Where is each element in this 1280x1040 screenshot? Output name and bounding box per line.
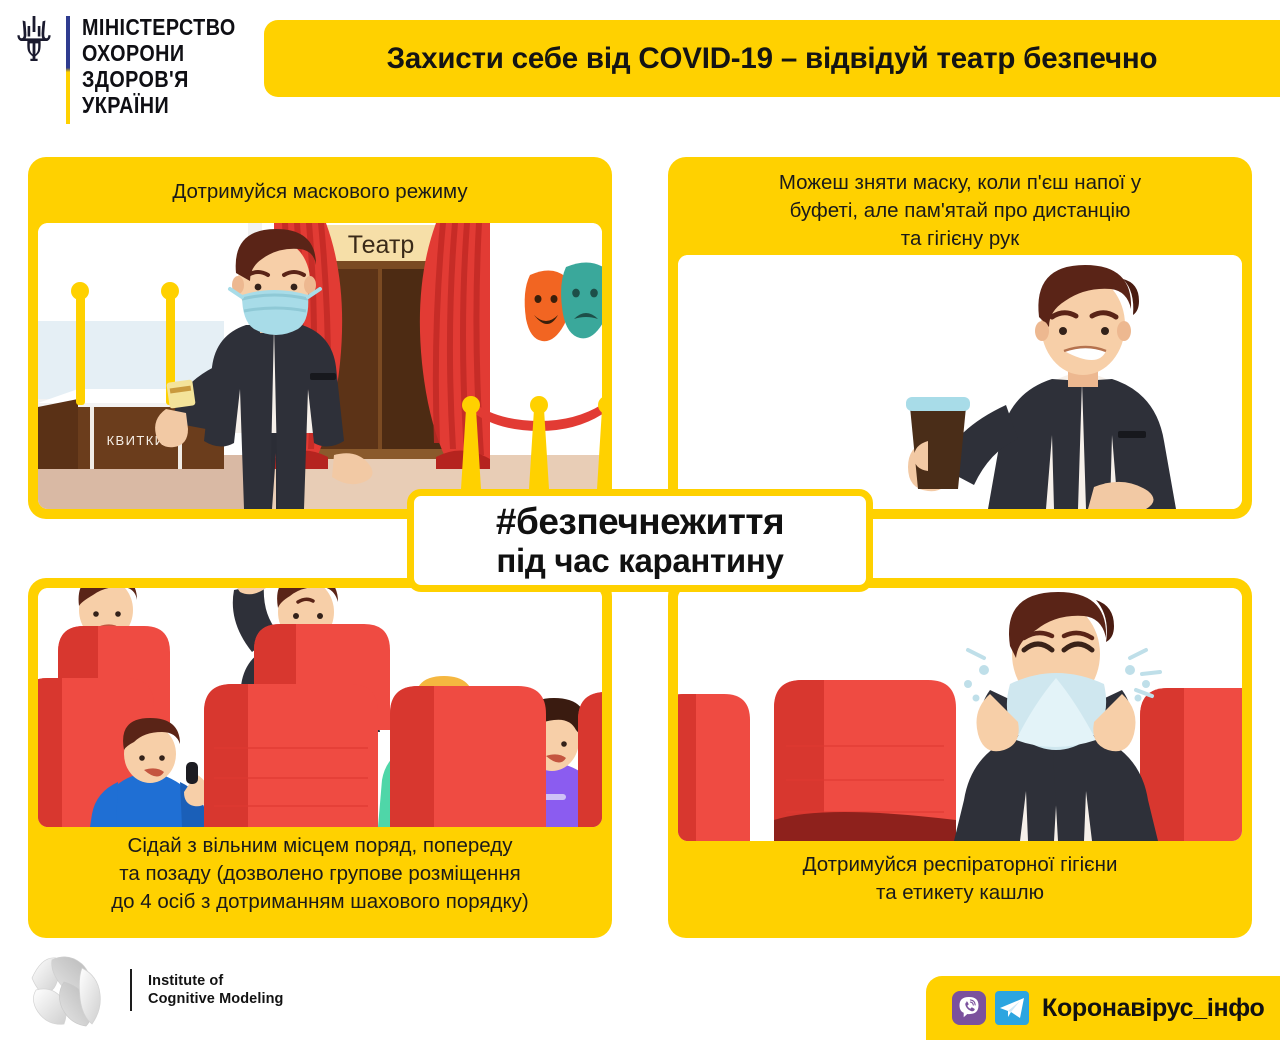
panel-seating-distance-caption-wrap: Сідай з вільним місцем поряд, попереду т…: [28, 832, 612, 916]
hashtag-line-2: під час карантину: [496, 542, 783, 580]
institute-line-1: Institute of: [148, 972, 284, 990]
hashtag-line-1: #безпечнежиття: [496, 502, 784, 542]
panel-seating-distance-illustration: [38, 588, 602, 827]
panel-mask-regime-caption-wrap: Дотримуйся маскового режиму: [28, 178, 612, 206]
coronavirus-info-label: Коронавірус_інфо: [1042, 994, 1264, 1023]
panel-drink-buffet-caption-wrap: Можеш зняти маску, коли п'єш напої у буф…: [668, 169, 1252, 253]
hashtag-badge: #безпечнежиття під час карантину: [407, 489, 873, 592]
page-title-suffix: безпечно: [1015, 42, 1157, 75]
panel-drink-buffet-caption-line-2: буфеті, але пам'ятай про дистанцію: [668, 197, 1252, 225]
ukraine-trident-emblem-icon: [14, 14, 54, 66]
folded-paper-logo-icon: [28, 952, 114, 1028]
infographic-page: МІНІСТЕРСТВО ОХОРОНИ ЗДОРОВ'Я УКРАЇНИ За…: [0, 0, 1280, 1040]
panel-respiratory-hygiene-caption-line-2: та етикету кашлю: [668, 879, 1252, 907]
panel-drink-buffet: Можеш зняти маску, коли п'єш напої у буф…: [668, 157, 1252, 519]
institute-line-2: Cognitive Modeling: [148, 990, 284, 1008]
page-title-prefix: Захисти себе від COVID-19 – відвідуй: [387, 42, 937, 75]
panel-mask-regime-illustration: Театр: [38, 223, 602, 509]
page-title-bar: Захисти себе від COVID-19 – відвідуй теа…: [264, 20, 1280, 97]
coronavirus-info-badge[interactable]: Коронавірус_інфо: [926, 976, 1280, 1040]
panel-seating-distance-caption-line-3: до 4 осіб з дотриманням шахового порядку…: [28, 888, 612, 916]
ministry-line-2: ОХОРОНИ: [82, 40, 236, 66]
page-title-emphasis: театр: [936, 42, 1015, 75]
institute-name: Institute of Cognitive Modeling: [148, 972, 284, 1008]
panel-seating-distance-caption-line-2: та позаду (дозволено групове розміщення: [28, 860, 612, 888]
panel-seating-distance-caption-line-1: Сідай з вільним місцем поряд, попереду: [28, 832, 612, 860]
ministry-line-4: УКРАЇНИ: [82, 92, 236, 118]
ministry-divider: [66, 16, 70, 124]
institute-logo: Institute of Cognitive Modeling: [28, 952, 284, 1028]
ministry-line-1: МІНІСТЕРСТВО: [82, 14, 236, 40]
panel-seating-distance: Сідай з вільним місцем поряд, попереду т…: [28, 578, 612, 938]
panel-respiratory-hygiene-caption-line-1: Дотримуйся респіраторної гігієни: [668, 851, 1252, 879]
panel-respiratory-hygiene-illustration: [678, 588, 1242, 841]
panel-drink-buffet-caption-line-3: та гігієну рук: [668, 225, 1252, 253]
panel-mask-regime: Дотримуйся маскового режиму Театр: [28, 157, 612, 519]
viber-icon[interactable]: [952, 991, 986, 1025]
panel-respiratory-hygiene: Дотримуйся респіраторної гігієни та етик…: [668, 578, 1252, 938]
svg-text:Театр: Театр: [348, 231, 414, 259]
panel-mask-regime-caption: Дотримуйся маскового режиму: [28, 178, 612, 206]
panel-drink-buffet-illustration: [678, 255, 1242, 509]
panel-respiratory-hygiene-caption-wrap: Дотримуйся респіраторної гігієни та етик…: [668, 851, 1252, 907]
header: МІНІСТЕРСТВО ОХОРОНИ ЗДОРОВ'Я УКРАЇНИ За…: [0, 0, 1280, 140]
ministry-name: МІНІСТЕРСТВО ОХОРОНИ ЗДОРОВ'Я УКРАЇНИ: [82, 14, 261, 118]
ministry-line-3: ЗДОРОВ'Я: [82, 66, 236, 92]
ministry-logo: МІНІСТЕРСТВО ОХОРОНИ ЗДОРОВ'Я УКРАЇНИ: [14, 14, 261, 124]
telegram-icon[interactable]: [995, 991, 1029, 1025]
panel-drink-buffet-caption-line-1: Можеш зняти маску, коли п'єш напої у: [668, 169, 1252, 197]
institute-logo-divider: [130, 969, 132, 1011]
page-title: Захисти себе від COVID-19 – відвідуй теа…: [387, 42, 1158, 76]
